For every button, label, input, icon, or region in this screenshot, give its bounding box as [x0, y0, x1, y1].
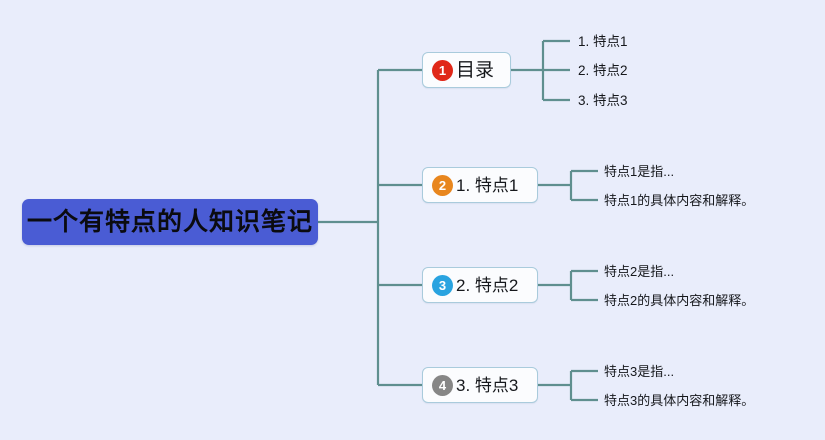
branch-3-badge: 3 [432, 275, 453, 296]
branch-node-3[interactable]: 3 2. 特点2 [422, 267, 538, 303]
branch-node-1[interactable]: 1 目录 [422, 52, 511, 88]
branch-4-leaf-1[interactable]: 特点3是指... [604, 365, 674, 378]
branch-1-leaf-1[interactable]: 1. 特点1 [578, 35, 628, 49]
branch-1-label: 目录 [456, 61, 494, 80]
branch-3-leaf-1[interactable]: 特点2是指... [604, 265, 674, 278]
branch-2-label: 1. 特点1 [456, 177, 518, 194]
branch-4-label: 3. 特点3 [456, 377, 518, 394]
mindmap-canvas: 一个有特点的人知识笔记 1 目录 1. 特点1 2. 特点2 3. 特点3 2 … [0, 0, 825, 440]
branch-node-4[interactable]: 4 3. 特点3 [422, 367, 538, 403]
branch-2-leaf-1[interactable]: 特点1是指... [604, 165, 674, 178]
branch-1-leaf-3[interactable]: 3. 特点3 [578, 94, 628, 108]
branch-node-2[interactable]: 2 1. 特点1 [422, 167, 538, 203]
root-node[interactable]: 一个有特点的人知识笔记 [22, 199, 318, 245]
branch-4-badge: 4 [432, 375, 453, 396]
branch-2-badge: 2 [432, 175, 453, 196]
branch-1-leaf-2[interactable]: 2. 特点2 [578, 64, 628, 78]
branch-1-badge: 1 [432, 60, 453, 81]
root-node-label: 一个有特点的人知识笔记 [27, 210, 313, 235]
branch-2-leaf-2[interactable]: 特点1的具体内容和解释。 [604, 194, 754, 207]
branch-4-leaf-2[interactable]: 特点3的具体内容和解释。 [604, 394, 754, 407]
branch-3-label: 2. 特点2 [456, 277, 518, 294]
branch-3-leaf-2[interactable]: 特点2的具体内容和解释。 [604, 294, 754, 307]
